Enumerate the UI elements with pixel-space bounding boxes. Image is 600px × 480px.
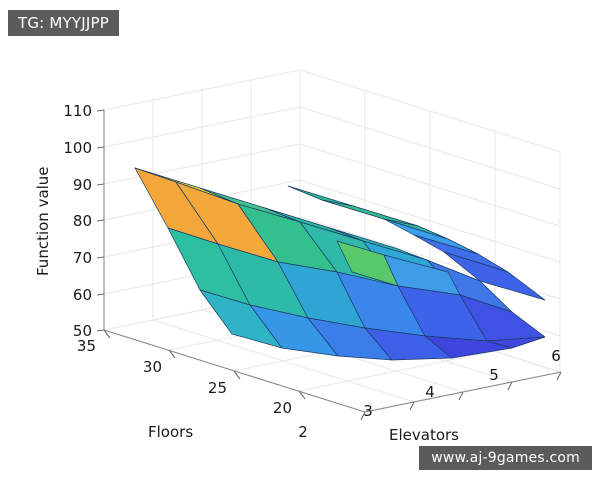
y-tick-35: 35 bbox=[77, 337, 96, 355]
x-tick-6: 6 bbox=[551, 347, 561, 365]
y-tick-30: 30 bbox=[143, 358, 162, 376]
z-tick-110: 110 bbox=[63, 102, 92, 120]
y-tick-25: 25 bbox=[208, 379, 227, 397]
surface-plot-3d: 110 100 90 80 70 60 50 35 30 25 20 2 bbox=[0, 0, 600, 480]
watermark-bottom-right: www.aj-9games.com bbox=[419, 446, 592, 470]
x-axis-title: Elevators bbox=[389, 426, 459, 444]
x-tick-2: 2 bbox=[298, 423, 308, 441]
z-tick-80: 80 bbox=[73, 212, 92, 230]
z-tick-90: 90 bbox=[73, 176, 92, 194]
y-axis-title: Floors bbox=[148, 423, 193, 441]
y-tick-20: 20 bbox=[273, 399, 292, 417]
watermark-top-left: TG: MYYJJPP bbox=[8, 10, 119, 36]
z-tick-60: 60 bbox=[73, 286, 92, 304]
z-axis-title: Function value bbox=[34, 166, 52, 276]
x-tick-4: 4 bbox=[425, 383, 435, 401]
chart-screenshot: 110 100 90 80 70 60 50 35 30 25 20 2 bbox=[0, 0, 600, 480]
z-tick-100: 100 bbox=[63, 139, 92, 157]
z-axis-ticks: 110 100 90 80 70 60 50 bbox=[63, 102, 104, 340]
z-tick-70: 70 bbox=[73, 249, 92, 267]
surface-mesh bbox=[135, 168, 545, 360]
x-tick-5: 5 bbox=[489, 366, 499, 384]
x-tick-3: 3 bbox=[363, 402, 373, 420]
